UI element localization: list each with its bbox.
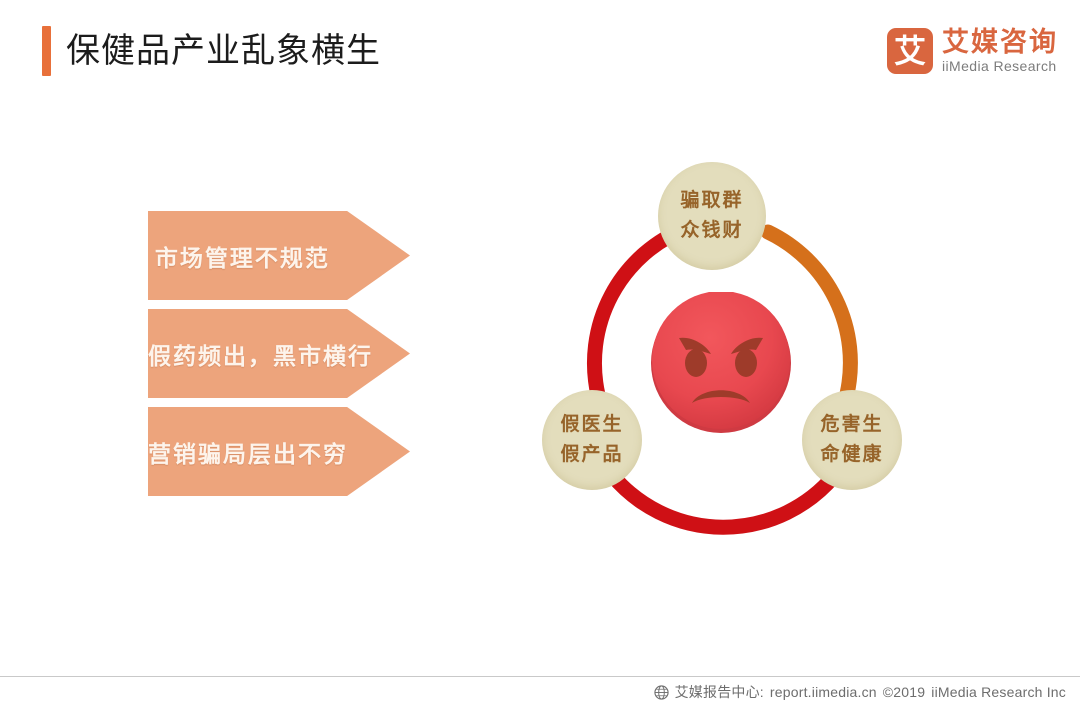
brand-logo: 艾 艾媒咨询 iiMedia Research xyxy=(887,22,1058,80)
page-footer: 艾媒报告中心: report.iimedia.cn ©2019 iiMedia … xyxy=(654,682,1066,702)
issue-banner-label: 营销骗局层出不穷 xyxy=(148,435,337,469)
cycle-node-top-line1: 骗取群 xyxy=(680,186,743,216)
ring-segment-bottom-red xyxy=(612,475,834,527)
cycle-node-top: 骗取群 众钱财 xyxy=(658,162,766,270)
footer-divider xyxy=(0,676,1080,677)
issue-banner: 营销骗局层出不穷 xyxy=(148,407,410,496)
issue-banner-list: 市场管理不规范 假药频出，黑市横行 营销骗局层出不穷 xyxy=(148,211,410,505)
consequence-cycle-diagram: 骗取群 众钱财 假医生 假产品 危害生 命健康 xyxy=(540,150,940,540)
logo-text: 艾媒咨询 iiMedia Research xyxy=(942,27,1058,75)
globe-icon xyxy=(654,685,669,700)
footer-copyright: ©2019 xyxy=(883,684,925,700)
footer-company: iiMedia Research Inc xyxy=(931,684,1066,700)
footer-center-label: 艾媒报告中心: xyxy=(675,682,764,702)
cycle-node-left: 假医生 假产品 xyxy=(542,390,642,490)
page-header: 保健品产业乱象横生 艾 艾媒咨询 iiMedia Research xyxy=(0,0,1080,105)
cycle-node-right-line1: 危害生 xyxy=(820,410,883,440)
cycle-node-right-line2: 命健康 xyxy=(820,440,883,470)
cycle-node-left-line2: 假产品 xyxy=(560,440,623,470)
cycle-node-left-line1: 假医生 xyxy=(560,410,623,440)
logo-name-cn: 艾媒咨询 xyxy=(942,27,1058,57)
angry-face-icon xyxy=(648,292,794,438)
logo-name-en: iiMedia Research xyxy=(942,58,1058,75)
issue-banner-label: 市场管理不规范 xyxy=(148,239,337,273)
page-title: 保健品产业乱象横生 xyxy=(66,27,381,75)
footer-url[interactable]: report.iimedia.cn xyxy=(770,684,877,700)
issue-banner: 假药频出，黑市横行 xyxy=(148,309,410,398)
title-accent-bar xyxy=(42,26,51,76)
issue-banner-label: 假药频出，黑市横行 xyxy=(148,337,337,371)
cycle-node-top-line2: 众钱财 xyxy=(680,216,743,246)
logo-mark-icon: 艾 xyxy=(887,28,933,74)
cycle-node-right: 危害生 命健康 xyxy=(802,390,902,490)
issue-banner: 市场管理不规范 xyxy=(148,211,410,300)
